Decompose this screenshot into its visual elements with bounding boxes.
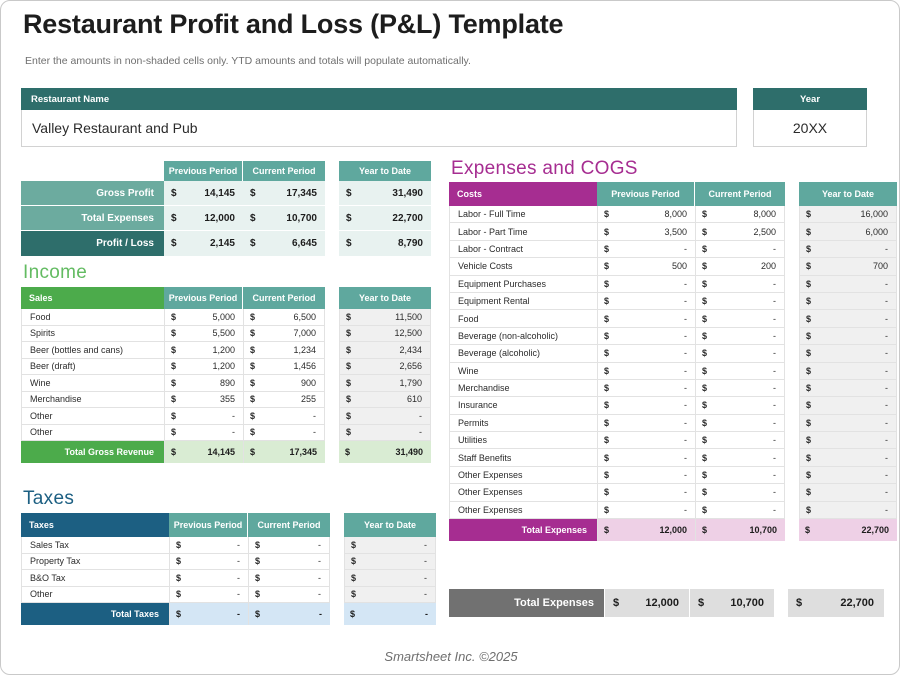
cell-previous[interactable]: $500 bbox=[597, 258, 695, 275]
cell-previous[interactable]: $3,500 bbox=[597, 223, 695, 240]
cell-value: 10,700 bbox=[286, 213, 317, 224]
cell-value: 1,234 bbox=[293, 345, 316, 355]
currency-symbol: $ bbox=[604, 383, 609, 393]
income-total-ytd: $31,490 bbox=[339, 441, 431, 463]
cell-previous[interactable]: $- bbox=[597, 328, 695, 345]
page-subtitle: Enter the amounts in non-shaded cells on… bbox=[25, 55, 471, 67]
currency-symbol: $ bbox=[171, 188, 177, 199]
cell-value: 6,000 bbox=[865, 227, 888, 237]
cell-previous[interactable]: $- bbox=[597, 241, 695, 258]
cell-current[interactable]: $200 bbox=[695, 258, 785, 275]
income-section-title: Income bbox=[23, 262, 87, 284]
cell-previous[interactable]: $- bbox=[597, 449, 695, 466]
cell-value: 2,434 bbox=[399, 345, 422, 355]
cell-value: - bbox=[237, 540, 240, 550]
currency-symbol: $ bbox=[171, 328, 176, 338]
currency-symbol: $ bbox=[171, 427, 176, 437]
cell-current[interactable]: $- bbox=[695, 380, 785, 397]
summary-row-gross-profit: Gross Profit $14,145 $17,345 $31,490 bbox=[21, 181, 431, 206]
cell-value: 14,145 bbox=[207, 447, 235, 457]
cell-current[interactable]: $- bbox=[248, 587, 330, 604]
cell-value: 1,456 bbox=[293, 361, 316, 371]
currency-symbol: $ bbox=[346, 312, 351, 322]
cell-current[interactable]: $255 bbox=[243, 392, 325, 409]
cell-current[interactable]: $- bbox=[695, 415, 785, 432]
cell-current[interactable]: $- bbox=[695, 293, 785, 310]
cell-value: 355 bbox=[220, 394, 235, 404]
cell-ytd: $- bbox=[799, 293, 897, 310]
cell-value: 5,500 bbox=[212, 328, 235, 338]
cell-previous[interactable]: $- bbox=[597, 310, 695, 327]
currency-symbol: $ bbox=[702, 314, 707, 324]
currency-symbol: $ bbox=[806, 383, 811, 393]
table-row: Insurance$-$-$- bbox=[449, 397, 897, 414]
currency-symbol: $ bbox=[255, 609, 260, 619]
column-gap bbox=[785, 276, 799, 293]
currency-symbol: $ bbox=[346, 411, 351, 421]
cell-previous[interactable]: $- bbox=[597, 276, 695, 293]
grand-total-ytd: $22,700 bbox=[788, 589, 884, 617]
column-gap bbox=[330, 537, 344, 554]
cell-value: 2,145 bbox=[210, 238, 235, 249]
cell-previous[interactable]: $- bbox=[597, 397, 695, 414]
cell-value: - bbox=[424, 556, 427, 566]
cell-value: - bbox=[773, 331, 776, 341]
cell-value: - bbox=[885, 348, 888, 358]
income-col-current: Current Period bbox=[243, 287, 325, 309]
row-label: Other bbox=[21, 587, 169, 604]
cell-value: 500 bbox=[672, 261, 687, 271]
currency-symbol: $ bbox=[806, 453, 811, 463]
currency-symbol: $ bbox=[346, 238, 352, 249]
taxes-gap bbox=[330, 513, 344, 537]
currency-symbol: $ bbox=[346, 188, 352, 199]
currency-symbol: $ bbox=[806, 366, 811, 376]
cell-current[interactable]: $8,000 bbox=[695, 206, 785, 223]
cell-current[interactable]: $- bbox=[248, 537, 330, 554]
cell-value: 610 bbox=[407, 394, 422, 404]
column-gap bbox=[330, 587, 344, 604]
currency-symbol: $ bbox=[702, 366, 707, 376]
cell-previous[interactable]: $- bbox=[169, 587, 248, 604]
cell-previous[interactable]: $1,200 bbox=[164, 342, 243, 359]
cell-ytd: $12,500 bbox=[339, 326, 431, 343]
column-gap bbox=[785, 502, 799, 519]
column-gap bbox=[785, 258, 799, 275]
table-row: Beer (bottles and cans)$1,200$1,234$2,43… bbox=[21, 342, 431, 359]
summary-col-previous: Previous Period bbox=[164, 161, 243, 181]
cell-previous[interactable]: $- bbox=[597, 345, 695, 362]
expenses-gap bbox=[785, 519, 799, 541]
cell-previous[interactable]: $- bbox=[597, 363, 695, 380]
cell-value: 900 bbox=[301, 378, 316, 388]
taxes-total-label: Total Taxes bbox=[21, 603, 169, 625]
column-gap bbox=[325, 359, 339, 376]
cell-current[interactable]: $- bbox=[243, 425, 325, 442]
cell-current[interactable]: $- bbox=[695, 484, 785, 501]
cell-value: - bbox=[684, 453, 687, 463]
cell-value: - bbox=[424, 589, 427, 599]
cell-current[interactable]: $- bbox=[695, 310, 785, 327]
cell-ytd: $- bbox=[799, 310, 897, 327]
currency-symbol: $ bbox=[702, 383, 707, 393]
table-row: Equipment Rental$-$-$- bbox=[449, 293, 897, 310]
cell-value: - bbox=[684, 314, 687, 324]
summary-gap bbox=[325, 161, 339, 181]
cell-previous[interactable]: $- bbox=[597, 502, 695, 519]
row-label: Property Tax bbox=[21, 554, 169, 571]
currency-symbol: $ bbox=[171, 345, 176, 355]
cell-value: 22,700 bbox=[392, 213, 423, 224]
currency-symbol: $ bbox=[702, 487, 707, 497]
cell-value: 17,345 bbox=[289, 447, 317, 457]
table-row: Staff Benefits$-$-$- bbox=[449, 449, 897, 466]
row-label: Other Expenses bbox=[449, 467, 597, 484]
cell-value: - bbox=[684, 383, 687, 393]
currency-symbol: $ bbox=[702, 400, 707, 410]
cell-value: - bbox=[419, 411, 422, 421]
table-row: Other$-$-$- bbox=[21, 587, 436, 604]
currency-symbol: $ bbox=[250, 188, 256, 199]
footer-text: Smartsheet Inc. ©2025 bbox=[1, 649, 900, 664]
income-gap bbox=[325, 287, 339, 309]
currency-symbol: $ bbox=[604, 227, 609, 237]
cell-value: - bbox=[773, 470, 776, 480]
cell-previous[interactable]: $- bbox=[597, 484, 695, 501]
currency-symbol: $ bbox=[702, 296, 707, 306]
cell-value: 5,000 bbox=[212, 312, 235, 322]
summary-row-label: Gross Profit bbox=[21, 181, 164, 206]
taxes-header-row: Taxes Previous Period Current Period Yea… bbox=[21, 513, 436, 537]
year-input[interactable]: 20XX bbox=[753, 110, 867, 147]
cell-current[interactable]: $- bbox=[695, 276, 785, 293]
currency-symbol: $ bbox=[346, 328, 351, 338]
page-title: Restaurant Profit and Loss (P&L) Templat… bbox=[23, 9, 563, 40]
cell-previous[interactable]: $1,200 bbox=[164, 359, 243, 376]
cell-current[interactable]: $- bbox=[695, 363, 785, 380]
cell-current[interactable]: $- bbox=[695, 397, 785, 414]
income-col-previous: Previous Period bbox=[164, 287, 243, 309]
column-gap bbox=[785, 223, 799, 240]
currency-symbol: $ bbox=[171, 312, 176, 322]
currency-symbol: $ bbox=[171, 394, 176, 404]
currency-symbol: $ bbox=[806, 418, 811, 428]
row-label: Other bbox=[21, 408, 164, 425]
cell-ytd: $- bbox=[799, 363, 897, 380]
cell-value: - bbox=[885, 279, 888, 289]
currency-symbol: $ bbox=[702, 418, 707, 428]
expenses-col-ytd: Year to Date bbox=[799, 182, 897, 206]
cell-previous[interactable]: $5,000 bbox=[164, 309, 243, 326]
currency-symbol: $ bbox=[702, 279, 707, 289]
cell-ytd: $- bbox=[799, 345, 897, 362]
expenses-col-previous: Previous Period bbox=[597, 182, 695, 206]
cell-value: - bbox=[885, 366, 888, 376]
column-gap bbox=[785, 467, 799, 484]
currency-symbol: $ bbox=[171, 447, 176, 457]
table-row: Food$-$-$- bbox=[449, 310, 897, 327]
table-row: Wine$-$-$- bbox=[449, 363, 897, 380]
cell-current[interactable]: $2,500 bbox=[695, 223, 785, 240]
currency-symbol: $ bbox=[176, 540, 181, 550]
cell-value: 890 bbox=[220, 378, 235, 388]
currency-symbol: $ bbox=[604, 366, 609, 376]
expenses-total-ytd: $22,700 bbox=[799, 519, 897, 541]
summary-row-total-expenses: Total Expenses $12,000 $10,700 $22,700 bbox=[21, 206, 431, 231]
cell-value: 6,500 bbox=[293, 312, 316, 322]
summary-col-ytd: Year to Date bbox=[339, 161, 431, 181]
currency-symbol: $ bbox=[604, 418, 609, 428]
currency-symbol: $ bbox=[171, 213, 177, 224]
currency-symbol: $ bbox=[255, 573, 260, 583]
taxes-col-ytd: Year to Date bbox=[344, 513, 436, 537]
currency-symbol: $ bbox=[702, 453, 707, 463]
income-total-previous: $14,145 bbox=[164, 441, 243, 463]
summary-ytd-cell: $8,790 bbox=[339, 231, 431, 256]
column-gap bbox=[325, 408, 339, 425]
cell-value: 10,700 bbox=[749, 525, 777, 535]
cell-current[interactable]: $- bbox=[695, 502, 785, 519]
row-label: Utilities bbox=[449, 432, 597, 449]
cell-value: - bbox=[318, 556, 321, 566]
currency-symbol: $ bbox=[255, 589, 260, 599]
currency-symbol: $ bbox=[250, 411, 255, 421]
cell-current[interactable]: $- bbox=[695, 467, 785, 484]
cell-value: - bbox=[684, 418, 687, 428]
expenses-total-label: Total Expenses bbox=[449, 519, 597, 541]
cell-ytd: $- bbox=[344, 587, 436, 604]
cell-ytd: $- bbox=[799, 276, 897, 293]
column-gap bbox=[785, 241, 799, 258]
cell-current[interactable]: $- bbox=[248, 554, 330, 571]
currency-symbol: $ bbox=[806, 487, 811, 497]
summary-row-label: Total Expenses bbox=[21, 206, 164, 231]
cell-current[interactable]: $7,000 bbox=[243, 326, 325, 343]
currency-symbol: $ bbox=[250, 378, 255, 388]
column-gap bbox=[785, 328, 799, 345]
column-gap bbox=[325, 309, 339, 326]
cell-current[interactable]: $- bbox=[695, 449, 785, 466]
table-row: Other$-$-$- bbox=[21, 425, 431, 442]
summary-header-row: Previous Period Current Period Year to D… bbox=[21, 161, 431, 181]
cell-value: - bbox=[773, 400, 776, 410]
cell-current[interactable]: $1,456 bbox=[243, 359, 325, 376]
currency-symbol: $ bbox=[346, 378, 351, 388]
cell-previous[interactable]: $- bbox=[164, 425, 243, 442]
row-label: Other bbox=[21, 425, 164, 442]
cell-value: - bbox=[773, 348, 776, 358]
currency-symbol: $ bbox=[604, 296, 609, 306]
column-gap bbox=[785, 363, 799, 380]
column-gap bbox=[785, 415, 799, 432]
taxes-table: Taxes Previous Period Current Period Yea… bbox=[21, 513, 436, 625]
cell-value: - bbox=[773, 244, 776, 254]
currency-symbol: $ bbox=[806, 400, 811, 410]
table-row: Wine$890$900$1,790 bbox=[21, 375, 431, 392]
cell-value: - bbox=[684, 435, 687, 445]
cell-current[interactable]: $- bbox=[695, 345, 785, 362]
currency-symbol: $ bbox=[604, 487, 609, 497]
cell-ytd: $- bbox=[799, 415, 897, 432]
cell-previous[interactable]: $- bbox=[597, 380, 695, 397]
cell-ytd: $- bbox=[799, 432, 897, 449]
column-gap bbox=[325, 392, 339, 409]
taxes-rows: Sales Tax$-$-$-Property Tax$-$-$-B&O Tax… bbox=[21, 537, 436, 603]
cell-value: 255 bbox=[301, 394, 316, 404]
cell-value: 16,000 bbox=[860, 209, 888, 219]
expenses-total-previous: $12,000 bbox=[597, 519, 695, 541]
currency-symbol: $ bbox=[698, 597, 704, 609]
column-gap bbox=[785, 432, 799, 449]
cell-ytd: $2,656 bbox=[339, 359, 431, 376]
grand-total-previous: $12,000 bbox=[604, 589, 689, 617]
taxes-gap bbox=[330, 603, 344, 625]
summary-ytd-cell: $31,490 bbox=[339, 181, 431, 206]
summary-ytd-cell: $22,700 bbox=[339, 206, 431, 231]
table-row: Merchandise$-$-$- bbox=[449, 380, 897, 397]
taxes-col-previous: Previous Period bbox=[169, 513, 248, 537]
currency-symbol: $ bbox=[346, 394, 351, 404]
taxes-total-previous: $- bbox=[169, 603, 248, 625]
row-label: Other Expenses bbox=[449, 502, 597, 519]
cell-value: 6,645 bbox=[292, 238, 317, 249]
cell-current[interactable]: $- bbox=[695, 328, 785, 345]
column-gap bbox=[325, 375, 339, 392]
currency-symbol: $ bbox=[250, 361, 255, 371]
currency-symbol: $ bbox=[702, 261, 707, 271]
summary-table: Previous Period Current Period Year to D… bbox=[21, 161, 431, 256]
table-row: Labor - Full Time$8,000$8,000$16,000 bbox=[449, 206, 897, 223]
table-row: Property Tax$-$-$- bbox=[21, 554, 436, 571]
row-label: B&O Tax bbox=[21, 570, 169, 587]
table-row: Merchandise$355$255$610 bbox=[21, 392, 431, 409]
cell-value: - bbox=[232, 427, 235, 437]
currency-symbol: $ bbox=[350, 609, 355, 619]
cell-previous[interactable]: $5,500 bbox=[164, 326, 243, 343]
column-gap bbox=[785, 345, 799, 362]
cell-previous[interactable]: $- bbox=[597, 415, 695, 432]
currency-symbol: $ bbox=[604, 279, 609, 289]
cell-previous[interactable]: $- bbox=[164, 408, 243, 425]
currency-symbol: $ bbox=[604, 400, 609, 410]
cell-previous[interactable]: $- bbox=[597, 293, 695, 310]
summary-col-current: Current Period bbox=[243, 161, 325, 181]
cell-value: 12,000 bbox=[204, 213, 235, 224]
cell-previous[interactable]: $8,000 bbox=[597, 206, 695, 223]
currency-symbol: $ bbox=[806, 435, 811, 445]
currency-symbol: $ bbox=[250, 447, 255, 457]
currency-symbol: $ bbox=[806, 470, 811, 480]
cell-value: 31,490 bbox=[392, 188, 423, 199]
cell-value: 22,700 bbox=[861, 525, 889, 535]
cell-current[interactable]: $- bbox=[243, 408, 325, 425]
cell-current[interactable]: $- bbox=[695, 241, 785, 258]
currency-symbol: $ bbox=[702, 244, 707, 254]
currency-symbol: $ bbox=[806, 209, 811, 219]
summary-current-cell[interactable]: $17,345 bbox=[243, 181, 325, 206]
currency-symbol: $ bbox=[250, 394, 255, 404]
cell-current[interactable]: $1,234 bbox=[243, 342, 325, 359]
cell-value: - bbox=[232, 411, 235, 421]
cell-value: 22,700 bbox=[840, 597, 874, 609]
cell-value: - bbox=[773, 366, 776, 376]
cell-value: - bbox=[684, 487, 687, 497]
summary-gap bbox=[325, 206, 339, 231]
currency-symbol: $ bbox=[806, 227, 811, 237]
cell-value: - bbox=[684, 366, 687, 376]
restaurant-name-input[interactable]: Valley Restaurant and Pub bbox=[21, 110, 737, 147]
cell-ytd: $- bbox=[799, 449, 897, 466]
row-label: Sales Tax bbox=[21, 537, 169, 554]
expenses-col-costs: Costs bbox=[449, 182, 597, 206]
currency-symbol: $ bbox=[250, 345, 255, 355]
cell-previous[interactable]: $- bbox=[597, 432, 695, 449]
income-total-current: $17,345 bbox=[243, 441, 325, 463]
currency-symbol: $ bbox=[250, 312, 255, 322]
column-gap bbox=[785, 449, 799, 466]
currency-symbol: $ bbox=[702, 470, 707, 480]
cell-value: - bbox=[885, 487, 888, 497]
page-root: Restaurant Profit and Loss (P&L) Templat… bbox=[0, 0, 900, 675]
table-row: Permits$-$-$- bbox=[449, 415, 897, 432]
cell-value: 8,790 bbox=[398, 238, 423, 249]
summary-current-cell[interactable]: $10,700 bbox=[243, 206, 325, 231]
cell-value: - bbox=[419, 427, 422, 437]
cell-current[interactable]: $900 bbox=[243, 375, 325, 392]
cell-ytd: $- bbox=[799, 502, 897, 519]
cell-value: - bbox=[684, 470, 687, 480]
cell-previous[interactable]: $- bbox=[169, 537, 248, 554]
cell-value: - bbox=[773, 453, 776, 463]
table-row: Spirits$5,500$7,000$12,500 bbox=[21, 326, 431, 343]
cell-previous[interactable]: $- bbox=[169, 554, 248, 571]
summary-previous-cell[interactable]: $12,000 bbox=[164, 206, 243, 231]
cell-value: - bbox=[684, 279, 687, 289]
column-gap bbox=[785, 484, 799, 501]
cell-value: - bbox=[885, 400, 888, 410]
currency-symbol: $ bbox=[346, 361, 351, 371]
currency-symbol: $ bbox=[255, 540, 260, 550]
cell-value: - bbox=[318, 573, 321, 583]
cell-value: 1,200 bbox=[212, 361, 235, 371]
cell-current[interactable]: $- bbox=[695, 432, 785, 449]
cell-current[interactable]: $6,500 bbox=[243, 309, 325, 326]
income-col-ytd: Year to Date bbox=[339, 287, 431, 309]
column-gap bbox=[325, 326, 339, 343]
column-gap bbox=[785, 380, 799, 397]
cell-value: 14,145 bbox=[204, 188, 235, 199]
cell-previous[interactable]: $890 bbox=[164, 375, 243, 392]
currency-symbol: $ bbox=[806, 279, 811, 289]
row-label: Labor - Contract bbox=[449, 241, 597, 258]
row-label: Staff Benefits bbox=[449, 449, 597, 466]
cell-value: - bbox=[424, 540, 427, 550]
cell-value: - bbox=[425, 609, 428, 619]
table-row: Sales Tax$-$-$- bbox=[21, 537, 436, 554]
taxes-total-current: $- bbox=[248, 603, 330, 625]
cell-value: - bbox=[885, 418, 888, 428]
cell-previous[interactable]: $- bbox=[169, 570, 248, 587]
summary-previous-cell[interactable]: $14,145 bbox=[164, 181, 243, 206]
row-label: Food bbox=[449, 310, 597, 327]
cell-ytd: $- bbox=[344, 537, 436, 554]
cell-ytd: $610 bbox=[339, 392, 431, 409]
cell-previous[interactable]: $- bbox=[597, 467, 695, 484]
cell-current[interactable]: $- bbox=[248, 570, 330, 587]
cell-value: - bbox=[684, 400, 687, 410]
cell-previous[interactable]: $355 bbox=[164, 392, 243, 409]
summary-current-cell: $6,645 bbox=[243, 231, 325, 256]
